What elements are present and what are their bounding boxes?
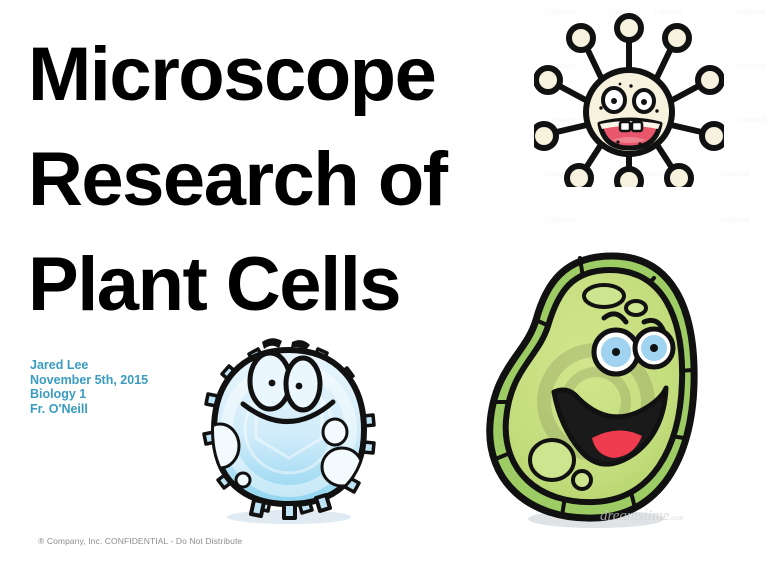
blue-cell-eye-right — [286, 358, 320, 410]
background-watermark: clipartof — [738, 62, 766, 70]
virus-eye-left — [603, 88, 625, 112]
background-watermark: clipartof — [738, 116, 766, 124]
cartoon-virus-icon — [534, 12, 724, 187]
background-watermark: clipartof — [722, 216, 750, 224]
byline-block: Jared Lee November 5th, 2015 Biology 1 F… — [30, 358, 148, 416]
virus-mouth — [600, 120, 660, 148]
cartoon-blue-cell-icon — [196, 334, 382, 526]
byline-course: Biology 1 — [30, 387, 148, 402]
byline-author: Jared Lee — [30, 358, 148, 373]
plant-cell-eye-right — [635, 329, 673, 367]
plant-cell-eye-left — [594, 330, 638, 374]
virus-eye-right — [634, 90, 654, 112]
byline-date: November 5th, 2015 — [30, 373, 148, 388]
background-watermark: clipartof — [722, 170, 750, 178]
byline-teacher: Fr. O'Neill — [30, 402, 148, 417]
cartoon-plant-cell-icon — [476, 242, 700, 538]
slide-canvas: clipartof clipartof clipartof clipartof … — [0, 0, 768, 561]
background-watermark: clipartof — [738, 8, 766, 16]
title-line-2: Research of — [28, 127, 568, 232]
title-line-1: Microscope — [28, 22, 568, 127]
confidentiality-footer: ® Company, Inc. CONFIDENTIAL - Do Not Di… — [38, 536, 242, 546]
